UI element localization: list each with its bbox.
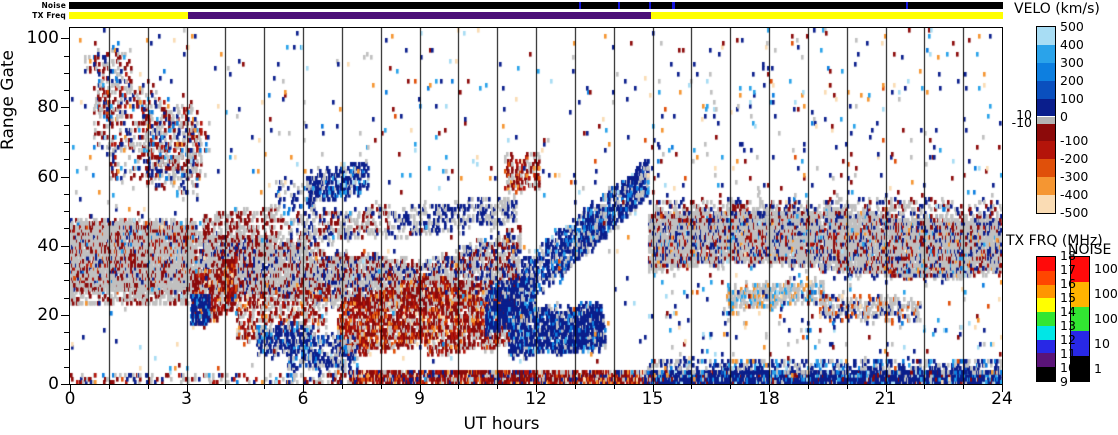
- velocity-colorbar-cell: [1037, 99, 1055, 117]
- colorbar-label: 18: [1060, 248, 1076, 263]
- txfreq-segment: [69, 12, 188, 19]
- colorbar-label: 100: [1094, 311, 1118, 326]
- colorbar-cell: [1037, 353, 1055, 367]
- y-tick-mark: [64, 194, 69, 195]
- txfreq-segment: [188, 12, 651, 19]
- y-tick-mark: [64, 349, 69, 350]
- velocity-colorbar-cell: [1037, 27, 1055, 45]
- velocity-colorbar-label: 200: [1060, 73, 1084, 88]
- y-tick-mark: [64, 142, 69, 143]
- velocity-colorbar-cell: [1037, 159, 1055, 177]
- y-tick-mark: [61, 246, 69, 247]
- colorbar-cell: [1037, 326, 1055, 340]
- velocity-colorbar-label: 500: [1060, 19, 1084, 34]
- x-tick-mark: [963, 384, 964, 389]
- y-tick-label: 40: [17, 236, 59, 256]
- y-tick-mark: [64, 73, 69, 74]
- x-tick-mark: [264, 384, 265, 389]
- velocity-colorbar-label: 100: [1060, 91, 1084, 106]
- x-tick-label: 9: [400, 389, 440, 409]
- velocity-colorbar-label: 300: [1060, 55, 1084, 70]
- colorbar-cell: [1037, 298, 1055, 312]
- colorbar-label: 10000: [1094, 261, 1118, 276]
- colorbar-label: 16: [1060, 276, 1076, 291]
- y-tick-mark: [61, 315, 69, 316]
- y-tick-mark: [64, 159, 69, 160]
- y-tick-mark: [61, 38, 69, 39]
- velocity-colorbar: [1036, 26, 1056, 214]
- x-tick-label: 21: [866, 389, 906, 409]
- y-tick-mark: [64, 280, 69, 281]
- radar-data-canvas: [70, 28, 1002, 384]
- velocity-colorbar-label: -500: [1060, 205, 1088, 220]
- txfreq-segment: [651, 12, 1003, 19]
- y-tick-mark: [64, 263, 69, 264]
- txfreq-bar-label: TX Freq: [0, 11, 66, 20]
- colorbar-label: 11: [1060, 346, 1076, 361]
- noise-tick: [906, 2, 909, 9]
- x-tick-label: 24: [982, 389, 1022, 409]
- x-tick-label: 18: [749, 389, 789, 409]
- y-tick-label: 80: [17, 97, 59, 117]
- x-tick-mark: [847, 384, 848, 389]
- txfrq-colorbar: [1036, 256, 1056, 382]
- y-tick-mark: [64, 90, 69, 91]
- velocity-colorbar-label: -100: [1060, 133, 1088, 148]
- x-tick-mark: [497, 384, 498, 389]
- velocity-colorbar-cell: [1037, 141, 1055, 159]
- velocity-colorbar-gray-band: [1037, 117, 1055, 124]
- velocity-gray-threshold-label: -10: [1006, 115, 1032, 130]
- colorbar-label: 1000: [1094, 286, 1118, 301]
- velocity-colorbar-label: -200: [1060, 151, 1088, 166]
- x-tick-label: 15: [633, 389, 673, 409]
- colorbar-label: 10: [1094, 336, 1110, 351]
- velocity-colorbar-cell: [1037, 45, 1055, 63]
- y-tick-mark: [64, 228, 69, 229]
- noise-tick: [579, 2, 582, 9]
- range-time-plot: [69, 27, 1003, 385]
- colorbar-label: 1: [1094, 361, 1102, 376]
- x-tick-mark: [342, 384, 343, 389]
- y-tick-mark: [64, 56, 69, 57]
- x-tick-label: 12: [516, 389, 556, 409]
- colorbar-label: 15: [1060, 290, 1076, 305]
- y-axis-label: Range Gate: [0, 50, 18, 150]
- x-tick-mark: [808, 384, 809, 389]
- x-tick-label: 6: [283, 389, 323, 409]
- x-tick-mark: [730, 384, 731, 389]
- velocity-colorbar-cell: [1037, 195, 1055, 213]
- velocity-colorbar-label: -400: [1060, 187, 1088, 202]
- noise-tick: [618, 2, 621, 9]
- x-tick-mark: [614, 384, 615, 389]
- x-tick-label: 0: [50, 389, 90, 409]
- colorbar-label: 12: [1060, 332, 1076, 347]
- x-axis-label: UT hours: [0, 414, 1003, 434]
- top-status-bars: [69, 2, 1003, 20]
- y-tick-mark: [61, 177, 69, 178]
- y-tick-mark: [64, 298, 69, 299]
- velocity-colorbar-title: VELO (km/s): [1014, 1, 1100, 17]
- colorbar-label: 13: [1060, 318, 1076, 333]
- y-tick-mark: [64, 125, 69, 126]
- colorbar-cell: [1037, 257, 1055, 271]
- x-tick-mark: [109, 384, 110, 389]
- colorbar-label: 9: [1060, 374, 1068, 389]
- y-tick-label: 100: [17, 28, 59, 48]
- x-tick-mark: [691, 384, 692, 389]
- velocity-colorbar-label: -300: [1060, 169, 1088, 184]
- y-tick-label: 20: [17, 305, 59, 325]
- colorbar-cell: [1037, 367, 1055, 381]
- y-tick-label: 60: [17, 167, 59, 187]
- txfreq-bar: [69, 12, 1003, 19]
- noise-tick: [672, 2, 675, 9]
- y-tick-mark: [64, 211, 69, 212]
- y-tick-mark: [64, 332, 69, 333]
- noise-tick: [649, 2, 652, 9]
- velocity-colorbar-label: 400: [1060, 37, 1084, 52]
- colorbar-cell: [1037, 312, 1055, 326]
- colorbar-cell: [1037, 271, 1055, 285]
- x-tick-mark: [381, 384, 382, 389]
- colorbar-label: 14: [1060, 304, 1076, 319]
- y-tick-mark: [61, 107, 69, 108]
- x-tick-mark: [148, 384, 149, 389]
- x-tick-mark: [458, 384, 459, 389]
- x-tick-mark: [225, 384, 226, 389]
- velocity-colorbar-cell: [1037, 63, 1055, 81]
- colorbar-cell: [1037, 340, 1055, 354]
- velocity-colorbar-cell: [1037, 81, 1055, 99]
- velocity-colorbar-label: 0: [1060, 109, 1068, 124]
- colorbar-label: 10: [1060, 360, 1076, 375]
- x-tick-label: 3: [167, 389, 207, 409]
- colorbar-cell: [1037, 285, 1055, 299]
- x-tick-mark: [575, 384, 576, 389]
- noise-bar-label: Noise: [0, 1, 66, 10]
- velocity-colorbar-cell: [1037, 177, 1055, 195]
- colorbar-label: 17: [1060, 262, 1076, 277]
- noise-bar: [69, 2, 1003, 9]
- y-tick-mark: [61, 384, 69, 385]
- velocity-colorbar-cell: [1037, 124, 1055, 142]
- x-tick-mark: [924, 384, 925, 389]
- y-tick-mark: [64, 367, 69, 368]
